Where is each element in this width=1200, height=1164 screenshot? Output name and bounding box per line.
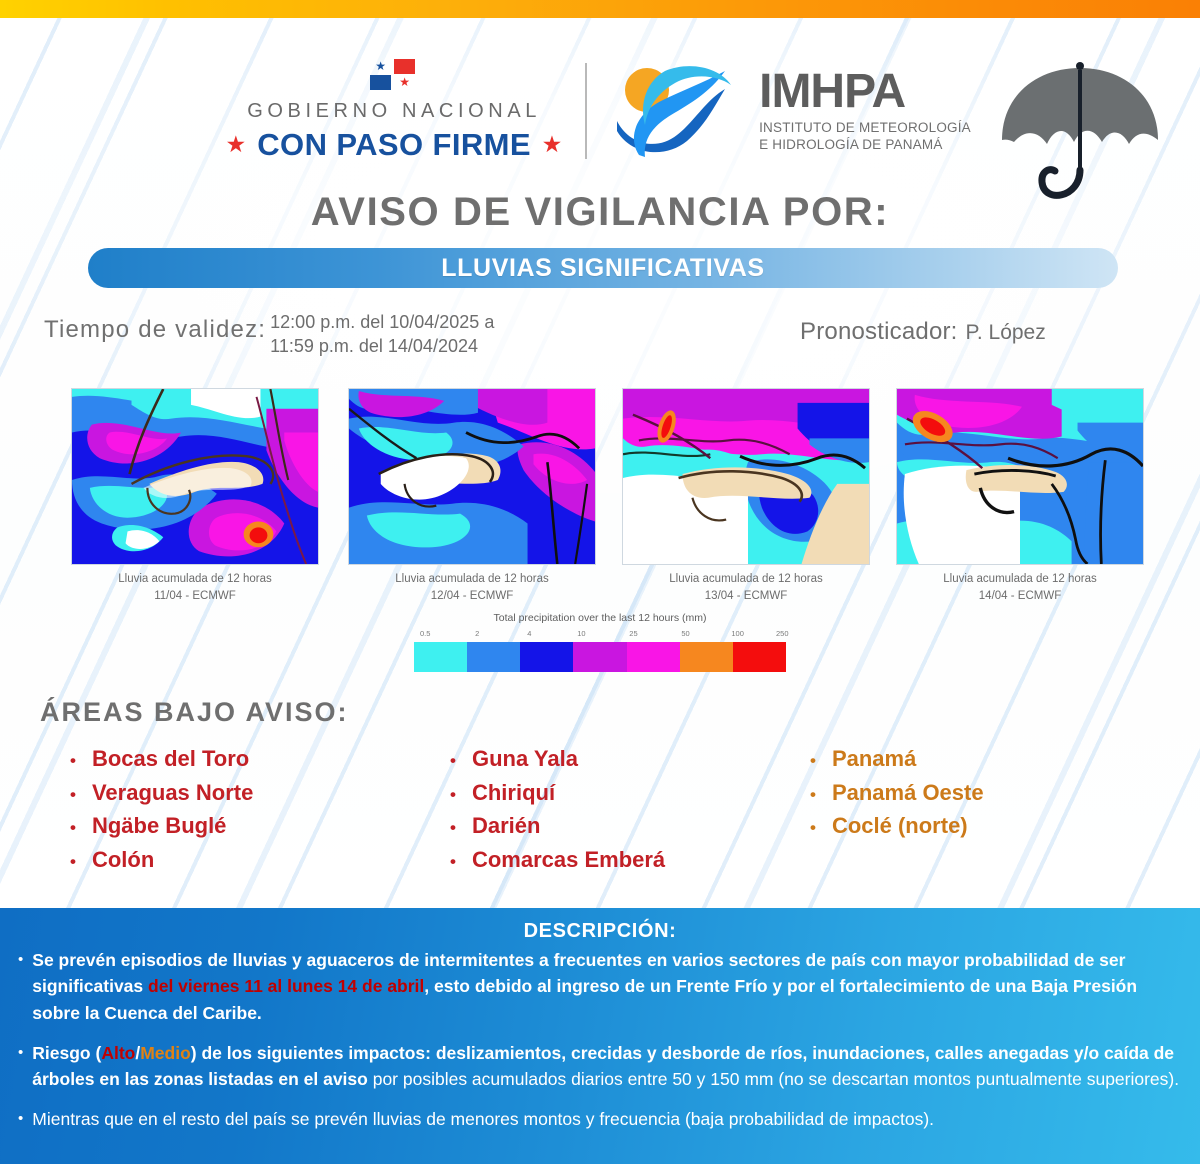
- description-text: Se prevén episodios de lluvias y aguacer…: [32, 947, 1182, 1026]
- description-panel: DESCRIPCIÓN: •Se prevén episodios de llu…: [0, 908, 1200, 1164]
- areas-column-1: •Bocas del Toro•Veraguas Norte•Ngäbe Bug…: [70, 744, 450, 879]
- map-caption-line2: 14/04 - ECMWF: [896, 588, 1144, 605]
- area-label: Coclé (norte): [832, 811, 968, 841]
- con-paso-firme-text: ★ CON PASO FIRME ★: [229, 127, 559, 163]
- bullet-icon: •: [810, 784, 816, 807]
- flag-quadrant-blue: [370, 75, 391, 90]
- map-caption-line2: 13/04 - ECMWF: [622, 588, 870, 605]
- precipitation-colorbar: Total precipitation over the last 12 hou…: [0, 612, 1200, 672]
- precipitation-map-1104: [71, 388, 319, 565]
- areas-column-3: •Panamá•Panamá Oeste•Coclé (norte): [810, 744, 1140, 879]
- star-left-icon: ★: [227, 132, 245, 157]
- bullet-icon: •: [450, 851, 456, 874]
- area-list-item: •Ngäbe Buglé: [70, 811, 450, 841]
- colorbar-segment: [680, 642, 733, 672]
- imhpa-logo: IMHPA INSTITUTO DE METEOROLOGÍA E HIDROL…: [613, 59, 971, 163]
- colorbar-tick: 4: [527, 629, 531, 638]
- validity-end: 11:59 p.m. del 14/04/2024: [270, 334, 494, 358]
- area-label: Bocas del Toro: [92, 744, 249, 774]
- bullet-icon: •: [810, 750, 816, 773]
- area-list-item: •Colón: [70, 845, 450, 875]
- colorbar-tick: 25: [629, 629, 637, 638]
- area-list-item: •Chiriquí: [450, 778, 810, 808]
- hazard-banner-label: LLUVIAS SIGNIFICATIVAS: [441, 254, 764, 283]
- description-items: •Se prevén episodios de lluvias y aguace…: [18, 947, 1182, 1133]
- description-bullet-item: •Se prevén episodios de lluvias y aguace…: [18, 947, 1182, 1026]
- bullet-icon: •: [70, 817, 76, 840]
- description-bullet-item: •Mientras que en el resto del país se pr…: [18, 1106, 1182, 1132]
- bullet-icon: •: [18, 947, 23, 1026]
- area-list-item: •Bocas del Toro: [70, 744, 450, 774]
- colorbar-ticks: 0.5 2 4 10 25 50 100 250: [414, 629, 786, 641]
- imhpa-subtitle: INSTITUTO DE METEOROLOGÍA E HIDROLOGÍA D…: [759, 119, 971, 154]
- area-list-item: •Guna Yala: [450, 744, 810, 774]
- description-text-run: Riesgo (: [32, 1043, 101, 1063]
- bullet-icon: •: [70, 851, 76, 874]
- precipitation-map-1204: [348, 388, 596, 565]
- description-spacer: [18, 1092, 1182, 1106]
- map-caption-line1: Lluvia acumulada de 12 horas: [348, 571, 596, 588]
- bullet-icon: •: [70, 784, 76, 807]
- validity-block: Tiempo de validez: 12:00 p.m. del 10/04/…: [44, 306, 494, 359]
- description-text-run: Medio: [140, 1043, 191, 1063]
- forecaster-name: P. López: [966, 321, 1046, 345]
- area-label: Chiriquí: [472, 778, 555, 808]
- colorbar-segment: [414, 642, 467, 672]
- imhpa-wave-sun-icon: [613, 59, 745, 163]
- areas-column-2: •Guna Yala•Chiriquí•Darién•Comarcas Embe…: [450, 744, 810, 879]
- area-label: Darién: [472, 811, 540, 841]
- hazard-banner: LLUVIAS SIGNIFICATIVAS: [88, 248, 1118, 288]
- map-caption-line2: 12/04 - ECMWF: [348, 588, 596, 605]
- precipitation-map-1404: [896, 388, 1144, 565]
- description-spacer: [18, 1026, 1182, 1040]
- validity-values: 12:00 p.m. del 10/04/2025 a 11:59 p.m. d…: [266, 306, 494, 359]
- flag-star-blue-icon: ★: [370, 59, 391, 74]
- colorbar-tick: 100: [731, 629, 744, 638]
- description-text: Riesgo (Alto/Medio) de los siguientes im…: [32, 1040, 1182, 1093]
- colorbar-title: Total precipitation over the last 12 hou…: [0, 612, 1200, 624]
- imhpa-text-block: IMHPA INSTITUTO DE METEOROLOGÍA E HIDROL…: [759, 67, 971, 153]
- colorbar-tick: 250: [776, 629, 789, 638]
- area-list-item: •Coclé (norte): [810, 811, 1140, 841]
- colorbar-strip: [414, 642, 786, 672]
- description-text-run: Alto: [101, 1043, 135, 1063]
- validity-label: Tiempo de validez:: [44, 306, 266, 344]
- forecast-map-panel[interactable]: Lluvia acumulada de 12 horas 12/04 - ECM…: [348, 388, 596, 604]
- map-caption: Lluvia acumulada de 12 horas 12/04 - ECM…: [348, 571, 596, 604]
- bullet-icon: •: [450, 784, 456, 807]
- precipitation-map-1304: [622, 388, 870, 565]
- bullet-icon: •: [450, 750, 456, 773]
- area-list-item: •Comarcas Emberá: [450, 845, 810, 875]
- gobierno-nacional-text: GOBIERNO NACIONAL: [229, 100, 559, 123]
- description-bullet-item: •Riesgo (Alto/Medio) de los siguientes i…: [18, 1040, 1182, 1093]
- forecast-map-panel[interactable]: Lluvia acumulada de 12 horas 11/04 - ECM…: [71, 388, 319, 604]
- page-title: AVISO DE VIGILANCIA POR:: [0, 190, 1200, 235]
- star-right-icon: ★: [543, 132, 561, 157]
- colorbar-tick: 50: [681, 629, 689, 638]
- description-text-run: Mientras que en el resto del país se pre…: [32, 1109, 934, 1129]
- colorbar-tick: 0.5: [420, 629, 430, 638]
- map-caption-line2: 11/04 - ECMWF: [71, 588, 319, 605]
- colorbar-segment: [573, 642, 626, 672]
- area-label: Ngäbe Buglé: [92, 811, 226, 841]
- gobierno-nacional-logo: ★ ★ GOBIERNO NACIONAL ★ CON PASO FIRME ★: [229, 59, 559, 163]
- area-label: Veraguas Norte: [92, 778, 253, 808]
- panama-flag-icon: ★ ★: [368, 59, 420, 93]
- bullet-icon: •: [18, 1106, 23, 1132]
- area-label: Panamá Oeste: [832, 778, 984, 808]
- imhpa-subtitle-line2: E HIDROLOGÍA DE PANAMÁ: [759, 136, 971, 153]
- flag-quadrant-red: [394, 59, 415, 74]
- area-label: Comarcas Emberá: [472, 845, 665, 875]
- imhpa-acronym: IMHPA: [759, 69, 971, 115]
- description-text-run: del viernes 11 al lunes 14 de abril: [148, 976, 424, 996]
- colorbar-segment: [520, 642, 573, 672]
- colorbar-segment: [733, 642, 786, 672]
- bullet-icon: •: [810, 817, 816, 840]
- map-caption: Lluvia acumulada de 12 horas 11/04 - ECM…: [71, 571, 319, 604]
- description-text-run: por posibles acumulados diarios entre 50…: [368, 1069, 1179, 1089]
- colorbar-segment: [627, 642, 680, 672]
- flag-star-red-icon: ★: [394, 75, 415, 90]
- colorbar-segment: [467, 642, 520, 672]
- map-caption-line1: Lluvia acumulada de 12 horas: [896, 571, 1144, 588]
- areas-section-title: ÁREAS BAJO AVISO:: [40, 697, 349, 728]
- description-text: Mientras que en el resto del país se pre…: [32, 1106, 934, 1132]
- map-caption: Lluvia acumulada de 12 horas 14/04 - ECM…: [896, 571, 1144, 604]
- bullet-icon: •: [70, 750, 76, 773]
- forecast-map-panel[interactable]: Lluvia acumulada de 12 horas 14/04 - ECM…: [896, 388, 1144, 604]
- description-title: DESCRIPCIÓN:: [18, 920, 1182, 943]
- logo-divider: [585, 63, 587, 159]
- forecast-map-row: Lluvia acumulada de 12 horas 11/04 - ECM…: [0, 388, 1200, 603]
- validity-start: 12:00 p.m. del 10/04/2025 a: [270, 310, 494, 334]
- area-label: Panamá: [832, 744, 916, 774]
- area-list-item: •Darién: [450, 811, 810, 841]
- forecast-map-panel[interactable]: Lluvia acumulada de 12 horas 13/04 - ECM…: [622, 388, 870, 604]
- colorbar-tick: 2: [475, 629, 479, 638]
- area-list-item: •Panamá: [810, 744, 1140, 774]
- area-list-item: •Panamá Oeste: [810, 778, 1140, 808]
- area-label: Colón: [92, 845, 154, 875]
- map-caption-line1: Lluvia acumulada de 12 horas: [622, 571, 870, 588]
- meta-row: Tiempo de validez: 12:00 p.m. del 10/04/…: [0, 306, 1200, 362]
- area-list-item: •Veraguas Norte: [70, 778, 450, 808]
- bullet-icon: •: [18, 1040, 23, 1093]
- colorbar-tick: 10: [577, 629, 585, 638]
- map-caption-line1: Lluvia acumulada de 12 horas: [71, 571, 319, 588]
- forecaster-block: Pronosticador: P. López: [800, 318, 1046, 346]
- areas-columns: •Bocas del Toro•Veraguas Norte•Ngäbe Bug…: [0, 744, 1200, 879]
- imhpa-subtitle-line1: INSTITUTO DE METEOROLOGÍA: [759, 119, 971, 136]
- area-label: Guna Yala: [472, 744, 578, 774]
- con-paso-firme-label: CON PASO FIRME: [257, 127, 531, 163]
- map-caption: Lluvia acumulada de 12 horas 13/04 - ECM…: [622, 571, 870, 604]
- bullet-icon: •: [450, 817, 456, 840]
- forecaster-label: Pronosticador:: [800, 318, 958, 346]
